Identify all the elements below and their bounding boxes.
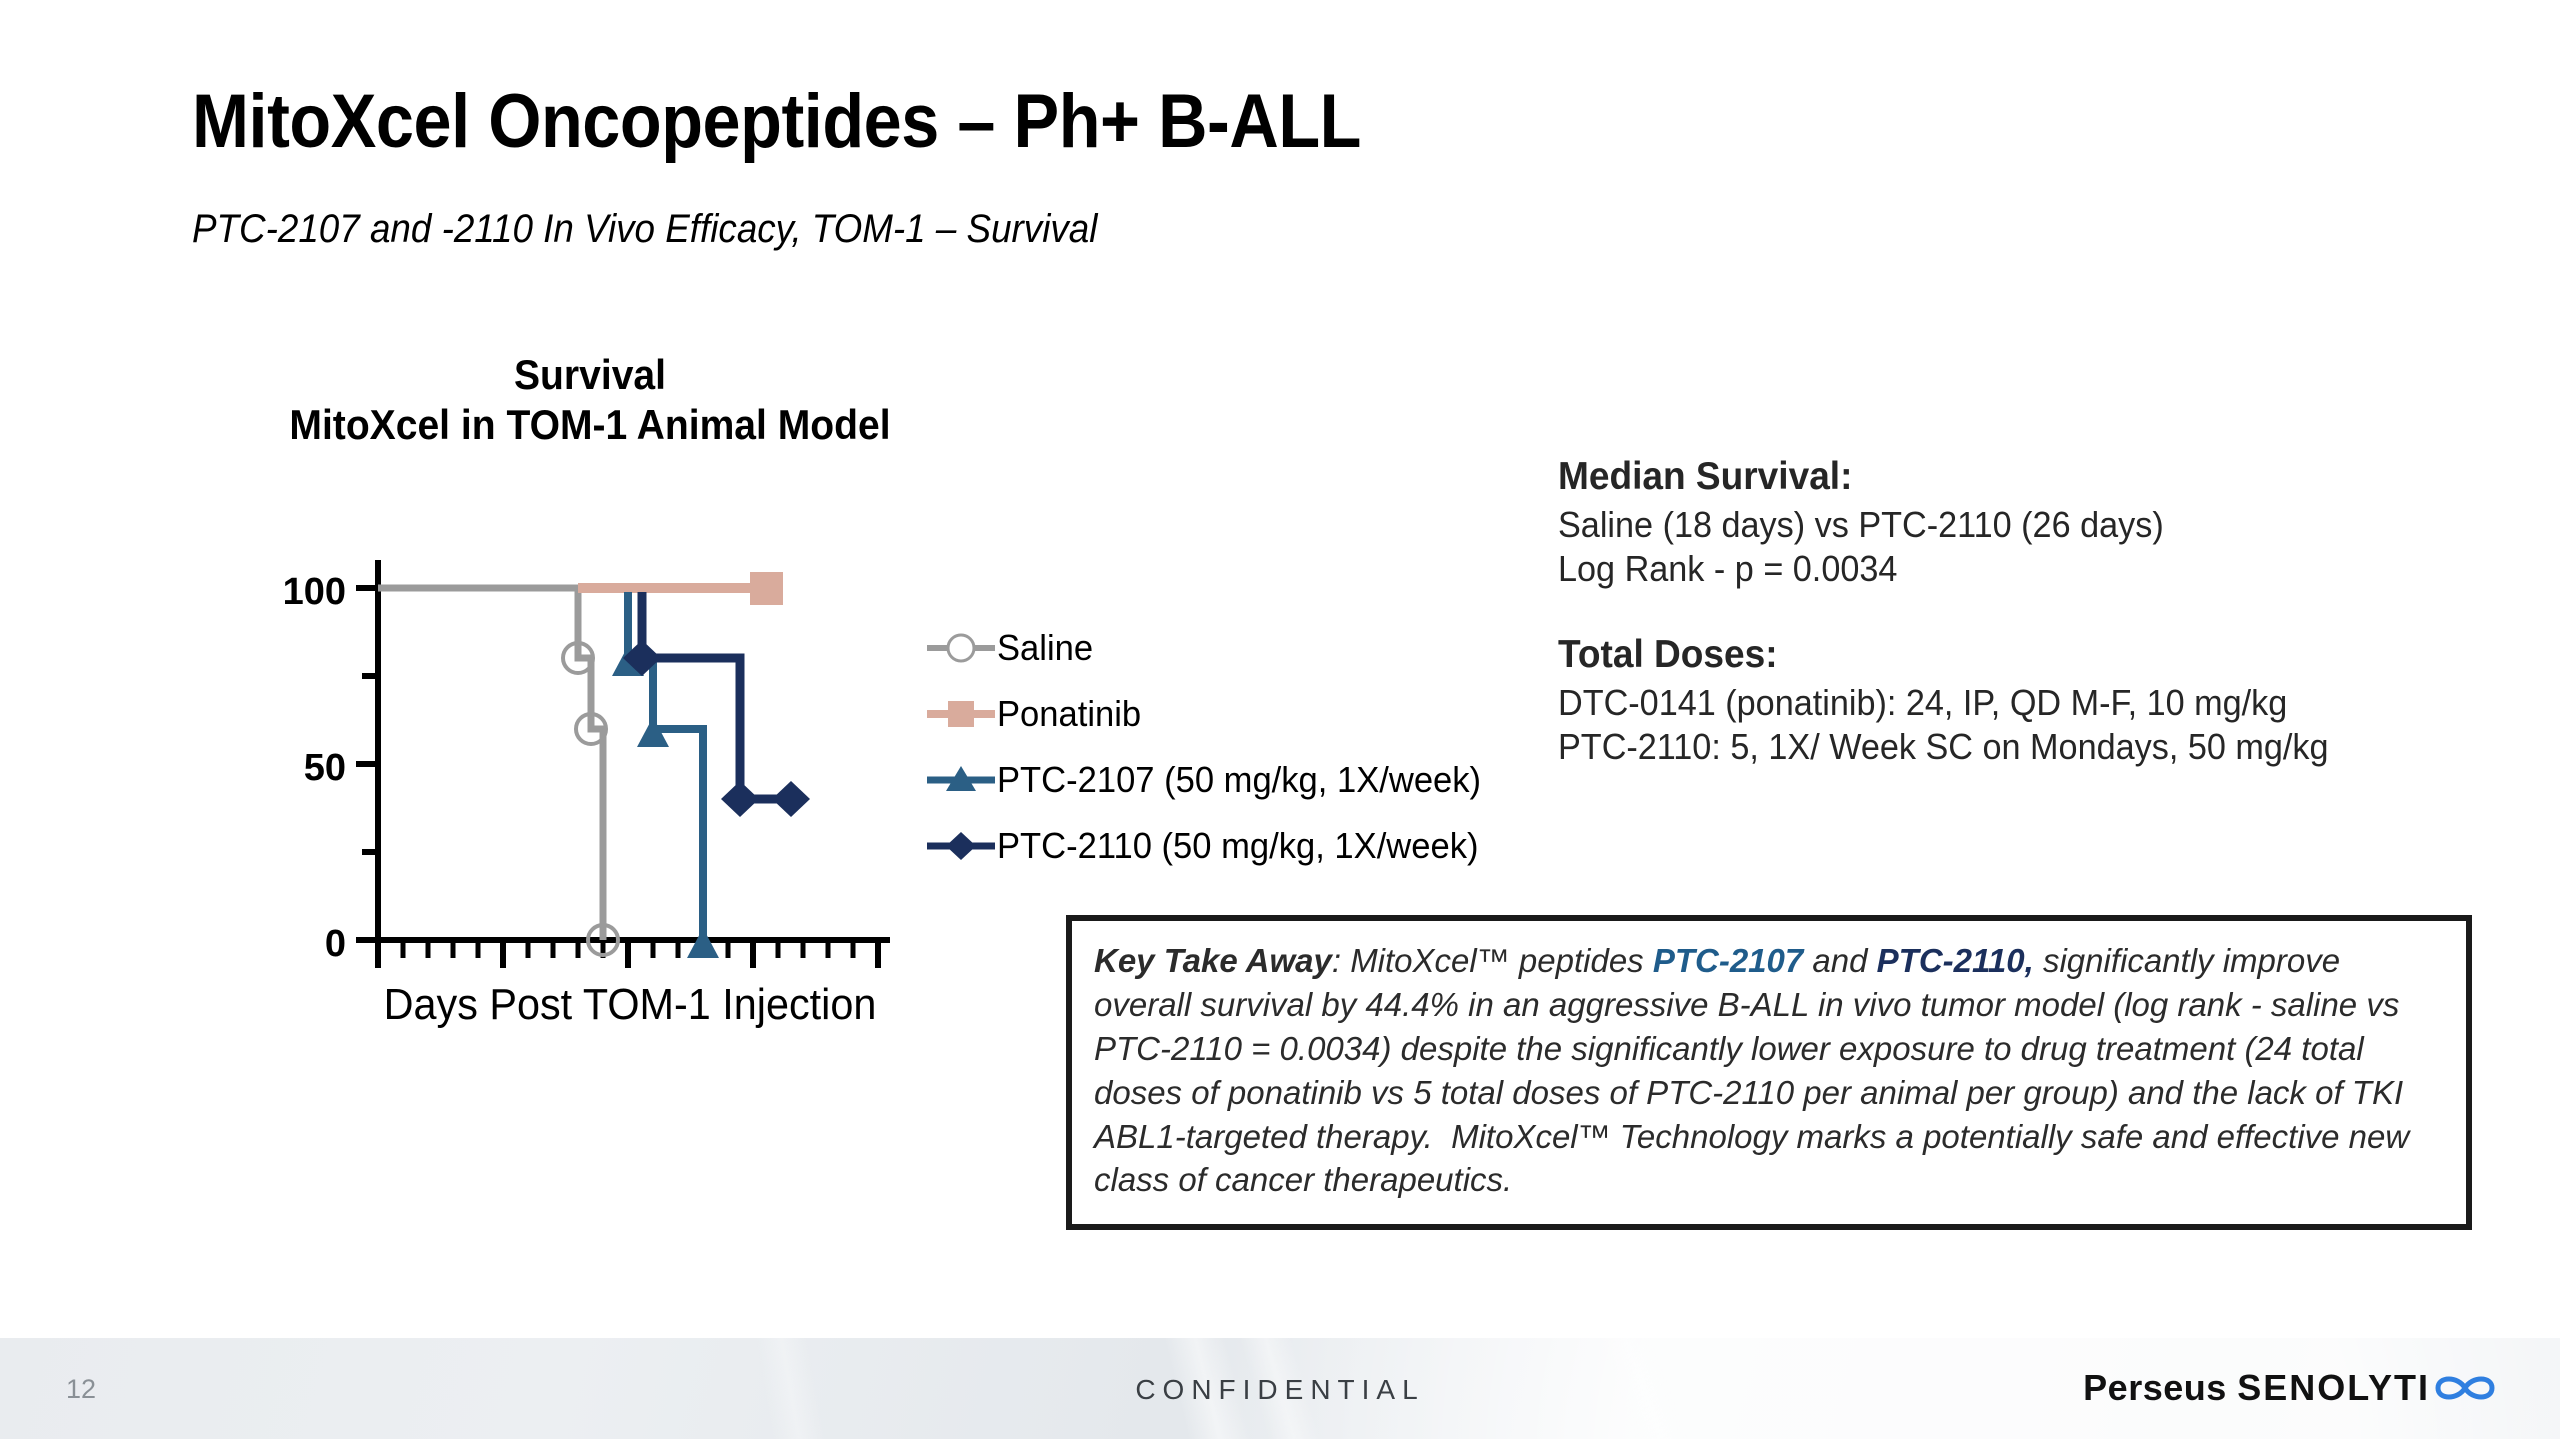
total-doses-line-1: DTC-0141 (ponatinib): 24, IP, QD M-F, 10… xyxy=(1558,681,2451,725)
series-ptc-2107 xyxy=(612,592,719,958)
slide-footer: 12 CONFIDENTIAL Perseus SENOLYTI xyxy=(0,1336,2560,1439)
total-doses-heading: Total Doses: xyxy=(1558,633,2451,677)
infinity-icon xyxy=(2432,1367,2498,1409)
key-take-away-drug-2107: PTC-2107 xyxy=(1653,942,1803,979)
legend-label-ptc-2107: PTC-2107 (50 mg/kg, 1X/week) xyxy=(997,759,1481,801)
censor-marker-2110-2 xyxy=(721,781,759,817)
legend-item-saline[interactable]: Saline xyxy=(925,615,1545,681)
page-title: MitoXcel Oncopeptides – Ph+ B-ALL xyxy=(192,82,1361,162)
legend-label-ptc-2110: PTC-2110 (50 mg/kg, 1X/week) xyxy=(997,825,1478,867)
y-tick-label-50: 50 xyxy=(304,747,346,789)
median-survival-heading: Median Survival: xyxy=(1558,455,2451,499)
total-doses-line-2: PTC-2110: 5, 1X/ Week SC on Mondays, 50 … xyxy=(1558,725,2451,769)
company-logo: Perseus SENOLYTI xyxy=(2083,1364,2498,1412)
median-survival-line-2: Log Rank - p = 0.0034 xyxy=(1558,547,2451,591)
censor-marker-ponatinib xyxy=(750,572,783,605)
y-axis-major-ticks xyxy=(356,588,378,940)
logo-word-senolytix: SENOLYTI xyxy=(2237,1367,2430,1408)
legend-key-ptc-2107-icon xyxy=(925,760,997,800)
chart-title-line-1: Survival xyxy=(181,350,999,400)
chart-legend: Saline Ponatinib PTC-2107 (50 mg/kg, 1X/… xyxy=(925,615,1545,879)
key-take-away-part-1: : MitoXcel™ peptides xyxy=(1332,942,1653,979)
legend-label-ponatinib: Ponatinib xyxy=(997,693,1141,735)
series-saline xyxy=(378,588,618,955)
key-take-away-drug-2110: PTC-2110, xyxy=(1877,942,2034,979)
censor-marker-2110-3 xyxy=(772,781,810,817)
chart-title: Survival MitoXcel in TOM-1 Animal Model xyxy=(181,350,999,449)
logo-text: Perseus SENOLYTI xyxy=(2083,1367,2430,1409)
info-spacer xyxy=(1558,591,2498,633)
series-ponatinib xyxy=(578,572,783,605)
y-tick-label-100: 100 xyxy=(283,571,346,613)
legend-key-ponatinib-icon xyxy=(925,694,997,734)
x-axis-label: Days Post TOM-1 Injection xyxy=(207,980,1053,1030)
key-take-away-part-2: and xyxy=(1803,942,1876,979)
legend-key-ptc-2110-icon xyxy=(925,826,997,866)
info-panel: Median Survival: Saline (18 days) vs PTC… xyxy=(1558,455,2498,769)
key-take-away-box: Key Take Away: MitoXcel™ peptides PTC-21… xyxy=(1066,915,2472,1230)
key-take-away-part-3: significantly improve overall survival b… xyxy=(1094,942,2409,1198)
key-take-away-text: Key Take Away: MitoXcel™ peptides PTC-21… xyxy=(1094,939,2440,1202)
logo-word-perseus: Perseus xyxy=(2083,1367,2227,1408)
page-subtitle: PTC-2107 and -2110 In Vivo Efficacy, TOM… xyxy=(192,207,1097,252)
key-take-away-label: Key Take Away xyxy=(1094,942,1332,979)
y-tick-label-0: 0 xyxy=(325,923,346,965)
legend-label-saline: Saline xyxy=(997,627,1093,669)
legend-item-ptc-2110[interactable]: PTC-2110 (50 mg/kg, 1X/week) xyxy=(925,813,1545,879)
legend-key-saline-icon xyxy=(925,628,997,668)
chart-title-line-2: MitoXcel in TOM-1 Animal Model xyxy=(181,400,999,450)
legend-item-ptc-2107[interactable]: PTC-2107 (50 mg/kg, 1X/week) xyxy=(925,747,1545,813)
median-survival-line-1: Saline (18 days) vs PTC-2110 (26 days) xyxy=(1558,503,2451,547)
legend-item-ponatinib[interactable]: Ponatinib xyxy=(925,681,1545,747)
